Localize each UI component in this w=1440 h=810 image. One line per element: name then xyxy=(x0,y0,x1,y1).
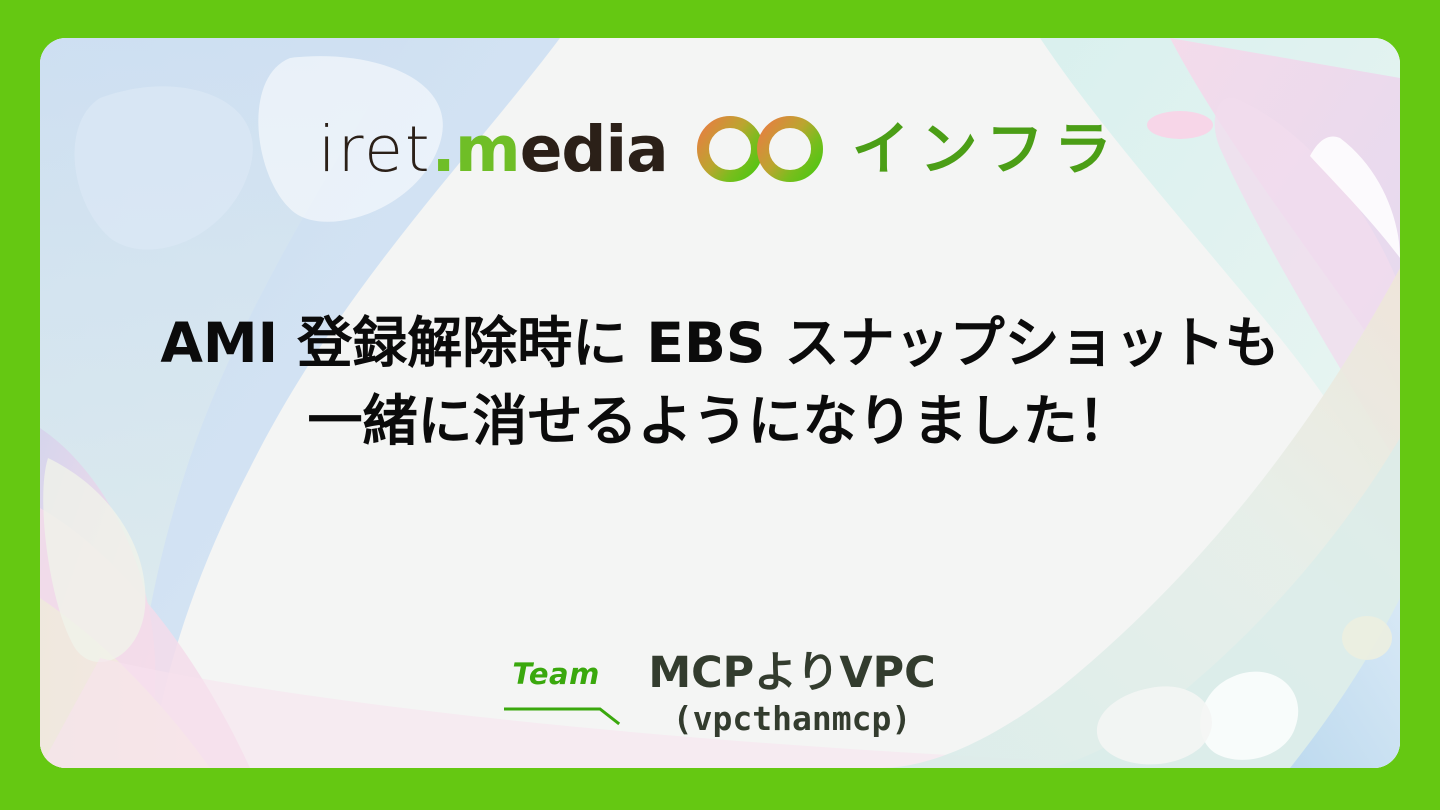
team-lockup: Team MCPよりVPC (vpcthanmcp) xyxy=(40,650,1400,740)
team-badge: Team xyxy=(504,650,622,689)
content-card: iret.media xyxy=(40,38,1400,768)
brand-header: iret.media xyxy=(318,110,1122,188)
team-handle: (vpcthanmcp) xyxy=(648,698,935,739)
wordmark-dot: . xyxy=(432,118,455,181)
wordmark-m: m xyxy=(455,118,520,181)
team-name: MCPよりVPC xyxy=(648,650,935,696)
wordmark-edia: edia xyxy=(520,118,668,181)
slide-stage: iret.media xyxy=(0,0,1440,810)
title-line-2: 一緒に消せるようになりました！ xyxy=(85,382,1355,460)
team-underline-arrow-icon xyxy=(504,692,622,726)
iret-media-wordmark: iret.media xyxy=(318,118,668,181)
page-title: AMI 登録解除時に EBS スナップショットも 一緒に消せるようになりました！ xyxy=(85,304,1355,460)
brand-category-label: インフラ xyxy=(852,120,1122,178)
team-names: MCPよりVPC (vpcthanmcp) xyxy=(648,650,935,740)
wordmark-iret: iret xyxy=(318,118,431,181)
team-badge-label: Team xyxy=(504,660,622,689)
title-line-1: AMI 登録解除時に EBS スナップショットも xyxy=(85,304,1355,382)
infinity-icon xyxy=(690,111,830,187)
